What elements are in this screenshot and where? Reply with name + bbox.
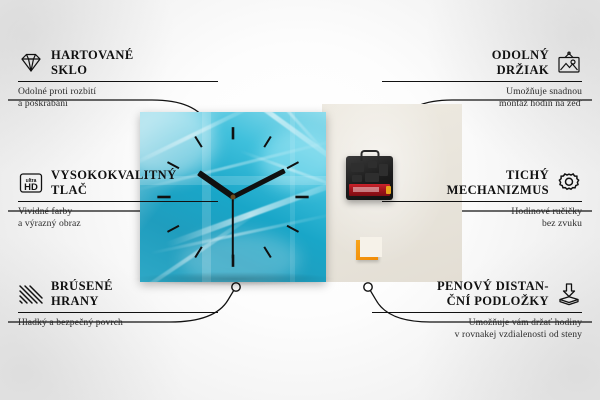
- callout-description: Vividné farby a výrazný obraz: [18, 206, 218, 230]
- callout-divider: [382, 201, 582, 202]
- callout-title-line2: ČNÍ PODLOŽKY: [447, 294, 549, 308]
- svg-text:HD: HD: [24, 182, 38, 193]
- callout-divider: [372, 312, 582, 313]
- diamond-icon: [18, 51, 44, 75]
- callout-title: TICHÝ MECHANIZMUS: [447, 168, 549, 197]
- callout-description: Umožňuje snadnou montáž hodin na zeď: [382, 86, 582, 110]
- callout-divider: [18, 81, 218, 82]
- picture-frame-hanger-icon: [556, 51, 582, 75]
- feature-callout-silent-mechanism[interactable]: TICHÝ MECHANIZMUS Hodinové ručičky bez z…: [382, 168, 582, 230]
- feature-callout-durable-hanger[interactable]: ODOLNÝ DRŽIAK Umožňuje snadnou montáž h: [382, 48, 582, 110]
- callout-title-line2: DRŽIAK: [497, 63, 549, 77]
- mechanism-detail: [368, 161, 377, 168]
- callout-desc-line1: Hodinové ručičky: [511, 206, 582, 217]
- callout-title-line1: PENOVÝ DISTAN-: [437, 279, 549, 293]
- mechanism-hanger-lug: [360, 150, 379, 161]
- callout-title: ODOLNÝ DRŽIAK: [492, 48, 549, 77]
- clock-second-hand: [232, 197, 234, 259]
- callout-header: TICHÝ MECHANIZMUS: [382, 168, 582, 197]
- callout-title-line1: BRÚSENÉ: [51, 279, 113, 293]
- callout-desc-line2: a poškrábání: [18, 98, 68, 109]
- callout-header: PENOVÝ DISTAN- ČNÍ PODLOŽKY: [372, 279, 582, 308]
- callout-description: Hodinové ručičky bez zvuku: [382, 206, 582, 230]
- foam-spacer-pad: [356, 240, 378, 260]
- callout-divider: [18, 312, 218, 313]
- callout-desc-line1: Vividné farby: [18, 206, 72, 217]
- callout-title-line1: ODOLNÝ: [492, 48, 549, 62]
- callout-desc-line1: Umožňuje vám držať hodiny: [469, 317, 582, 328]
- callout-title: HARTOVANÉ SKLO: [51, 48, 134, 77]
- hatched-edge-icon: [18, 282, 44, 306]
- callout-description: Odolné proti rozbití a poškrábání: [18, 86, 218, 110]
- callout-title: VYSOKOKVALITNÝ TLAČ: [51, 168, 177, 197]
- callout-title-line2: MECHANIZMUS: [447, 183, 549, 197]
- callout-header: HARTOVANÉ SKLO: [18, 48, 218, 77]
- callout-divider: [18, 201, 218, 202]
- callout-header: BRÚSENÉ HRANY: [18, 279, 218, 308]
- callout-desc-line1: Umožňuje snadnou: [506, 86, 582, 97]
- ultra-hd-badge-icon: ultra HD: [18, 171, 44, 195]
- callout-desc-line2: a výrazný obraz: [18, 218, 81, 229]
- battery-label-strip: [353, 187, 379, 192]
- feature-callout-foam-spacers[interactable]: PENOVÝ DISTAN- ČNÍ PODLOŽKY Umožňuje vám…: [372, 279, 582, 341]
- clock-center-pivot: [231, 195, 236, 200]
- connector-node-right-3: [364, 283, 372, 291]
- mechanism-detail: [351, 163, 364, 172]
- callout-title-line1: TICHÝ: [506, 168, 549, 182]
- callout-title: BRÚSENÉ HRANY: [51, 279, 113, 308]
- callout-title-line1: HARTOVANÉ: [51, 48, 134, 62]
- feature-callout-hardened-glass[interactable]: HARTOVANÉ SKLO Odolné proti rozbití a po…: [18, 48, 218, 110]
- callout-desc-line2: bez zvuku: [542, 218, 582, 229]
- feature-callout-polished-edges[interactable]: BRÚSENÉ HRANY Hladký a bezpečný povrch: [18, 279, 218, 329]
- callout-desc-line2: montáž hodin na zeď: [499, 98, 582, 109]
- foam-pad-highlight: [360, 237, 382, 257]
- press-down-pad-icon: [556, 282, 582, 306]
- infographic-canvas: HARTOVANÉ SKLO Odolné proti rozbití a po…: [0, 0, 600, 400]
- mechanism-detail: [352, 175, 362, 182]
- callout-divider: [382, 81, 582, 82]
- callout-header: ultra HD VYSOKOKVALITNÝ TLAČ: [18, 168, 218, 197]
- mechanism-detail: [365, 173, 379, 182]
- callout-header: ODOLNÝ DRŽIAK: [382, 48, 582, 77]
- callout-title-line1: VYSOKOKVALITNÝ: [51, 168, 177, 182]
- callout-title-line2: SKLO: [51, 63, 87, 77]
- callout-description: Umožňuje vám držať hodiny v rovnakej vzd…: [372, 317, 582, 341]
- callout-desc-line1: Hladký a bezpečný povrch: [18, 317, 123, 328]
- feature-callout-high-quality-print[interactable]: ultra HD VYSOKOKVALITNÝ TLAČ Vividné far…: [18, 168, 218, 230]
- callout-desc-line1: Odolné proti rozbití: [18, 86, 96, 97]
- callout-title-line2: TLAČ: [51, 183, 87, 197]
- callout-description: Hladký a bezpečný povrch: [18, 317, 218, 329]
- callout-title-line2: HRANY: [51, 294, 99, 308]
- callout-title: PENOVÝ DISTAN- ČNÍ PODLOŽKY: [437, 279, 549, 308]
- gear-icon: [556, 171, 582, 195]
- callout-desc-line2: v rovnakej vzdialenosti od steny: [455, 329, 582, 340]
